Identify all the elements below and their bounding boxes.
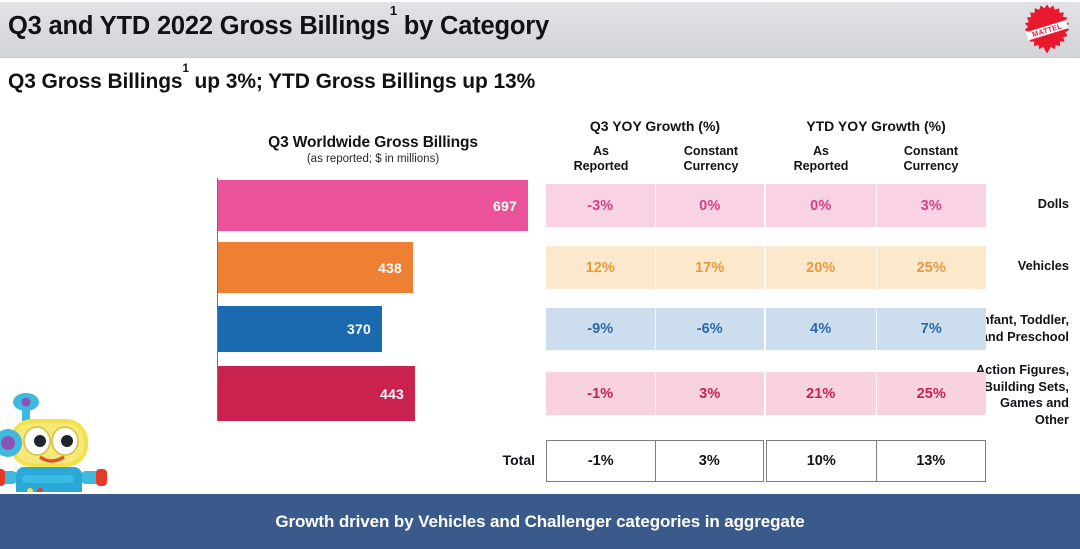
- cell-ytd-constant-action-figures: 25%: [876, 372, 987, 415]
- cell-ytd-constant-infant-toddler-preschool: 7%: [876, 308, 987, 350]
- q3-constant-line1: Constant: [656, 144, 766, 159]
- cell-ytd-as-reported-total: 10%: [767, 441, 876, 481]
- page-title-suffix: by Category: [397, 12, 549, 40]
- cell-q3-as-reported-action-figures: -1%: [546, 372, 655, 415]
- cell-q3-constant-total: 3%: [655, 441, 764, 481]
- q3-constant-line2: Currency: [656, 159, 766, 174]
- cell-ytd-as-reported-vehicles: 20%: [766, 246, 876, 289]
- table-row: Dolls 697 -3% 0% 0% 3%: [0, 180, 1080, 231]
- cell-ytd-constant-vehicles: 25%: [876, 246, 987, 289]
- ytd-growth-cells-vehicles: 20% 25%: [766, 246, 986, 289]
- cell-q3-as-reported-vehicles: 12%: [546, 246, 655, 289]
- cell-ytd-as-reported-action-figures: 21%: [766, 372, 876, 415]
- total-row-label: Total: [331, 452, 546, 468]
- bar-value-dolls: 697: [493, 198, 528, 214]
- q3-constant-currency-column-header: Constant Currency: [656, 144, 766, 173]
- cell-q3-constant-action-figures: 3%: [655, 372, 765, 415]
- page-title-footnote-marker: 1: [390, 3, 397, 18]
- ytd-constant-line1: Constant: [876, 144, 986, 159]
- cell-ytd-as-reported-infant-toddler-preschool: 4%: [766, 308, 876, 350]
- cell-q3-constant-infant-toddler-preschool: -6%: [655, 308, 765, 350]
- q3-growth-cells-action-figures: -1% 3%: [546, 372, 764, 415]
- page-subtitle-footnote-marker: 1: [183, 63, 189, 75]
- bar-vehicles: 438: [218, 242, 413, 293]
- table-row: Vehicles 438 12% 17% 20% 25%: [0, 242, 1080, 293]
- bar-dolls: 697: [218, 180, 528, 231]
- q3-growth-total-cells: -1% 3%: [546, 440, 764, 482]
- q3-as-reported-line2: Reported: [546, 159, 656, 174]
- cell-ytd-as-reported-dolls: 0%: [766, 184, 876, 227]
- bar-value-vehicles: 438: [378, 260, 413, 276]
- ytd-as-reported-line1: As: [766, 144, 876, 159]
- q3-growth-cells-vehicles: 12% 17%: [546, 246, 764, 289]
- bar-action-figures: 443: [218, 366, 415, 421]
- q3-growth-group-title: Q3 YOY Growth (%): [546, 118, 764, 134]
- bar-value-action-figures: 443: [380, 386, 415, 402]
- cell-q3-as-reported-infant-toddler-preschool: -9%: [546, 308, 655, 350]
- page-title: Q3 and YTD 2022 Gross Billings1 by Categ…: [8, 12, 549, 41]
- bottom-banner-text: Growth driven by Vehicles and Challenger…: [275, 512, 804, 532]
- q3-growth-cells-dolls: -3% 0%: [546, 184, 764, 227]
- table-row: Infant, Toddler, and Preschool 370 -9% -…: [0, 306, 1080, 352]
- ytd-growth-total-cells: 10% 13%: [766, 440, 986, 482]
- bar-value-infant-toddler-preschool: 370: [347, 321, 382, 337]
- cell-q3-as-reported-total: -1%: [547, 441, 655, 481]
- page-subtitle: Q3 Gross Billings1 up 3%; YTD Gross Bill…: [8, 70, 535, 94]
- q3-as-reported-column-header: As Reported: [546, 144, 656, 173]
- table-row: Action Figures, Building Sets, Games and…: [0, 366, 1080, 421]
- bar-infant-toddler-preschool: 370: [218, 306, 382, 352]
- ytd-as-reported-line2: Reported: [766, 159, 876, 174]
- ytd-growth-cells-action-figures: 21% 25%: [766, 372, 986, 415]
- total-row: Total -1% 3% 10% 13%: [0, 440, 1080, 482]
- cell-q3-constant-vehicles: 17%: [655, 246, 765, 289]
- chart-subtitle: (as reported; $ in millions): [217, 153, 529, 165]
- cell-ytd-constant-total: 13%: [876, 441, 986, 481]
- cell-ytd-constant-dolls: 3%: [876, 184, 987, 227]
- ytd-constant-line2: Currency: [876, 159, 986, 174]
- cell-q3-constant-dolls: 0%: [655, 184, 765, 227]
- mattel-logo: MATTEL: [1021, 4, 1073, 54]
- cell-q3-as-reported-dolls: -3%: [546, 184, 655, 227]
- page-subtitle-text: Q3 Gross Billings: [8, 70, 183, 93]
- q3-growth-cells-infant-toddler-preschool: -9% -6%: [546, 308, 764, 350]
- bottom-banner: Growth driven by Vehicles and Challenger…: [0, 492, 1080, 549]
- ytd-growth-cells-dolls: 0% 3%: [766, 184, 986, 227]
- chart-title: Q3 Worldwide Gross Billings: [217, 134, 529, 152]
- ytd-growth-group-title: YTD YOY Growth (%): [766, 118, 986, 134]
- page-subtitle-suffix: up 3%; YTD Gross Billings up 13%: [189, 70, 535, 93]
- ytd-as-reported-column-header: As Reported: [766, 144, 876, 173]
- q3-as-reported-line1: As: [546, 144, 656, 159]
- page-title-text: Q3 and YTD 2022 Gross Billings: [8, 12, 390, 40]
- ytd-constant-currency-column-header: Constant Currency: [876, 144, 986, 173]
- ytd-growth-cells-infant-toddler-preschool: 4% 7%: [766, 308, 986, 350]
